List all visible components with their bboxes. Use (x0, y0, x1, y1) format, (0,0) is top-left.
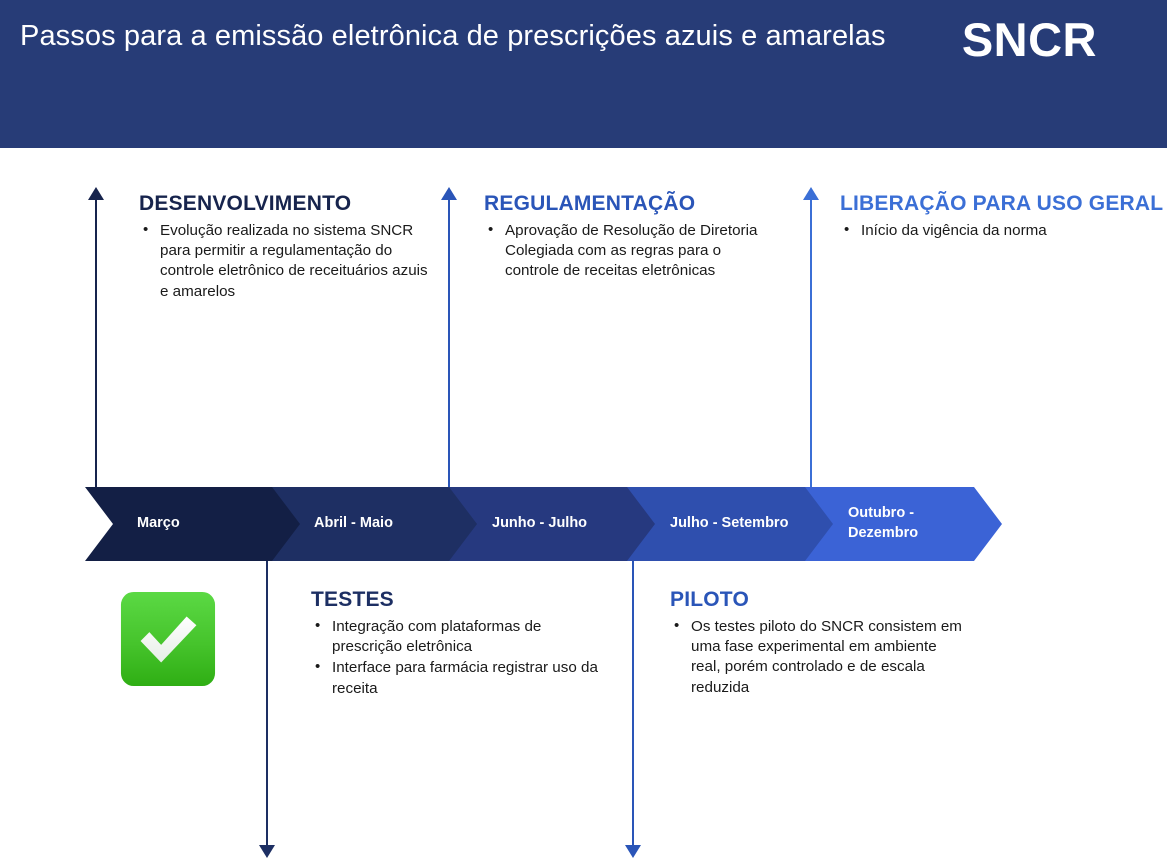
block-heading: PILOTO (670, 588, 970, 612)
arrow-up-liberacao (803, 187, 819, 499)
green-check-icon (119, 590, 217, 688)
block-desenvolvimento: DESENVOLVIMENTO Evolução realizada no si… (139, 192, 439, 303)
block-liberacao-uso-geral: LIBERAÇÃO PARA USO GERAL Início da vigên… (840, 192, 1167, 242)
block-heading: LIBERAÇÃO PARA USO GERAL (840, 192, 1167, 216)
block-bullet-list: Integração com plataformas de prescrição… (311, 617, 611, 699)
block-bullet-list: Aprovação de Resolução de Diretoria Cole… (484, 221, 774, 282)
list-item: Interface para farmácia registrar uso da… (311, 658, 611, 698)
list-item: Os testes piloto do SNCR consistem em um… (670, 617, 970, 698)
timeline-chevron-bar: Março Abril - Maio Junho - Julho Julho -… (0, 487, 1167, 561)
block-heading: DESENVOLVIMENTO (139, 192, 439, 216)
block-bullet-list: Os testes piloto do SNCR consistem em um… (670, 617, 970, 698)
block-bullet-list: Evolução realizada no sistema SNCR para … (139, 221, 439, 302)
block-regulamentacao: REGULAMENTAÇÃO Aprovação de Resolução de… (484, 192, 774, 283)
arrow-up-desenvolvimento (88, 187, 104, 499)
timeline-phase-marco[interactable]: Março (85, 487, 300, 561)
sncr-logo: SNCR (962, 12, 1097, 67)
arrow-down-testes (259, 555, 275, 858)
block-testes: TESTES Integração com plataformas de pre… (311, 588, 611, 700)
timeline-phase-label: Março (85, 514, 300, 534)
list-item: Início da vigência da norma (840, 221, 1167, 241)
block-bullet-list: Início da vigência da norma (840, 221, 1167, 241)
block-piloto: PILOTO Os testes piloto do SNCR consiste… (670, 588, 970, 699)
block-heading: REGULAMENTAÇÃO (484, 192, 774, 216)
arrow-down-piloto (625, 555, 641, 858)
page-title: Passos para a emissão eletrônica de pres… (20, 16, 900, 57)
header-banner: Passos para a emissão eletrônica de pres… (0, 0, 1167, 148)
list-item: Aprovação de Resolução de Diretoria Cole… (484, 221, 774, 282)
list-item: Integração com plataformas de prescrição… (311, 617, 611, 657)
list-item: Evolução realizada no sistema SNCR para … (139, 221, 439, 302)
infographic-canvas: Passos para a emissão eletrônica de pres… (0, 0, 1167, 858)
block-heading: TESTES (311, 588, 611, 612)
arrow-up-regulamentacao (441, 187, 457, 499)
